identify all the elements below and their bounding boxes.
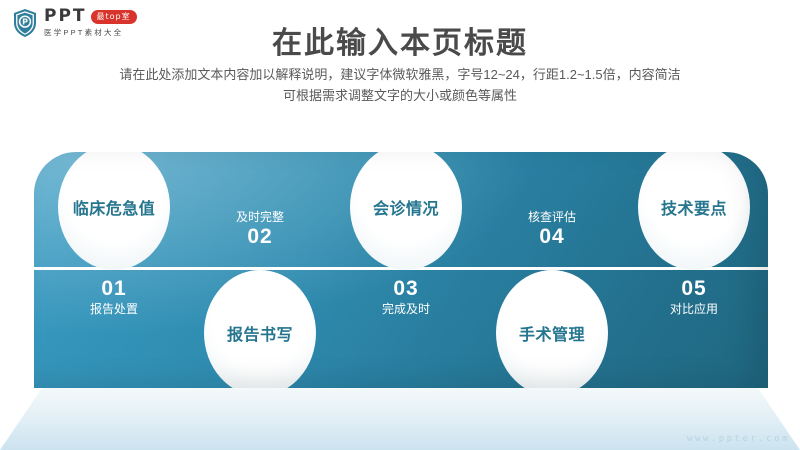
step-caption-5: 对比应用 — [620, 302, 768, 316]
step-bubble-label-1: 临床危急值 — [73, 195, 156, 219]
step-meta-3: 03 完成及时 — [332, 276, 480, 317]
panel-base-platform — [0, 388, 800, 450]
step-bubble-1[interactable]: 临床危急值 — [58, 152, 170, 270]
step-number-5: 05 — [620, 276, 768, 302]
process-step-1[interactable]: 临床危急值 01 报告处置 — [40, 152, 188, 388]
step-bubble-5[interactable]: 技术要点 — [638, 152, 750, 270]
step-bubble-3[interactable]: 会诊情况 — [350, 152, 462, 270]
step-caption-1: 报告处置 — [40, 302, 188, 316]
step-number-2: 02 — [186, 224, 334, 250]
page-title: 在此输入本页标题 — [0, 18, 800, 62]
process-step-2[interactable]: 及时完整 02 报告书写 — [186, 152, 334, 388]
step-bubble-2[interactable]: 报告书写 — [204, 270, 316, 388]
step-bubble-label-3: 会诊情况 — [373, 195, 439, 219]
step-meta-2: 及时完整 02 — [186, 210, 334, 251]
subtitle-line-2: 可根据需求调整文字的大小或颜色等属性 — [0, 85, 800, 106]
step-bubble-label-5: 技术要点 — [661, 195, 727, 219]
process-step-3[interactable]: 会诊情况 03 完成及时 — [332, 152, 480, 388]
step-number-4: 04 — [478, 224, 626, 250]
step-caption-3: 完成及时 — [332, 302, 480, 316]
step-meta-5: 05 对比应用 — [620, 276, 768, 317]
step-number-1: 01 — [40, 276, 188, 302]
step-meta-4: 核查评估 04 — [478, 210, 626, 251]
subtitle-line-1: 请在此处添加文本内容加以解释说明，建议字体微软雅黑，字号12~24，行距1.2~… — [0, 64, 800, 85]
process-diagram-panel: 临床危急值 01 报告处置 及时完整 02 报告书写 会诊情况 03 完成及时 … — [34, 152, 768, 388]
step-bubble-label-4: 手术管理 — [519, 321, 585, 345]
step-bubble-4[interactable]: 手术管理 — [496, 270, 608, 388]
watermark: www.ppter.com — [687, 434, 790, 444]
step-bubble-label-2: 报告书写 — [227, 321, 293, 345]
step-caption-2: 及时完整 — [186, 210, 334, 224]
step-number-3: 03 — [332, 276, 480, 302]
page-subtitle: 请在此处添加文本内容加以解释说明，建议字体微软雅黑，字号12~24，行距1.2~… — [0, 64, 800, 107]
step-meta-1: 01 报告处置 — [40, 276, 188, 317]
process-step-4[interactable]: 核查评估 04 手术管理 — [478, 152, 626, 388]
process-step-5[interactable]: 技术要点 05 对比应用 — [620, 152, 768, 388]
step-caption-4: 核查评估 — [478, 210, 626, 224]
